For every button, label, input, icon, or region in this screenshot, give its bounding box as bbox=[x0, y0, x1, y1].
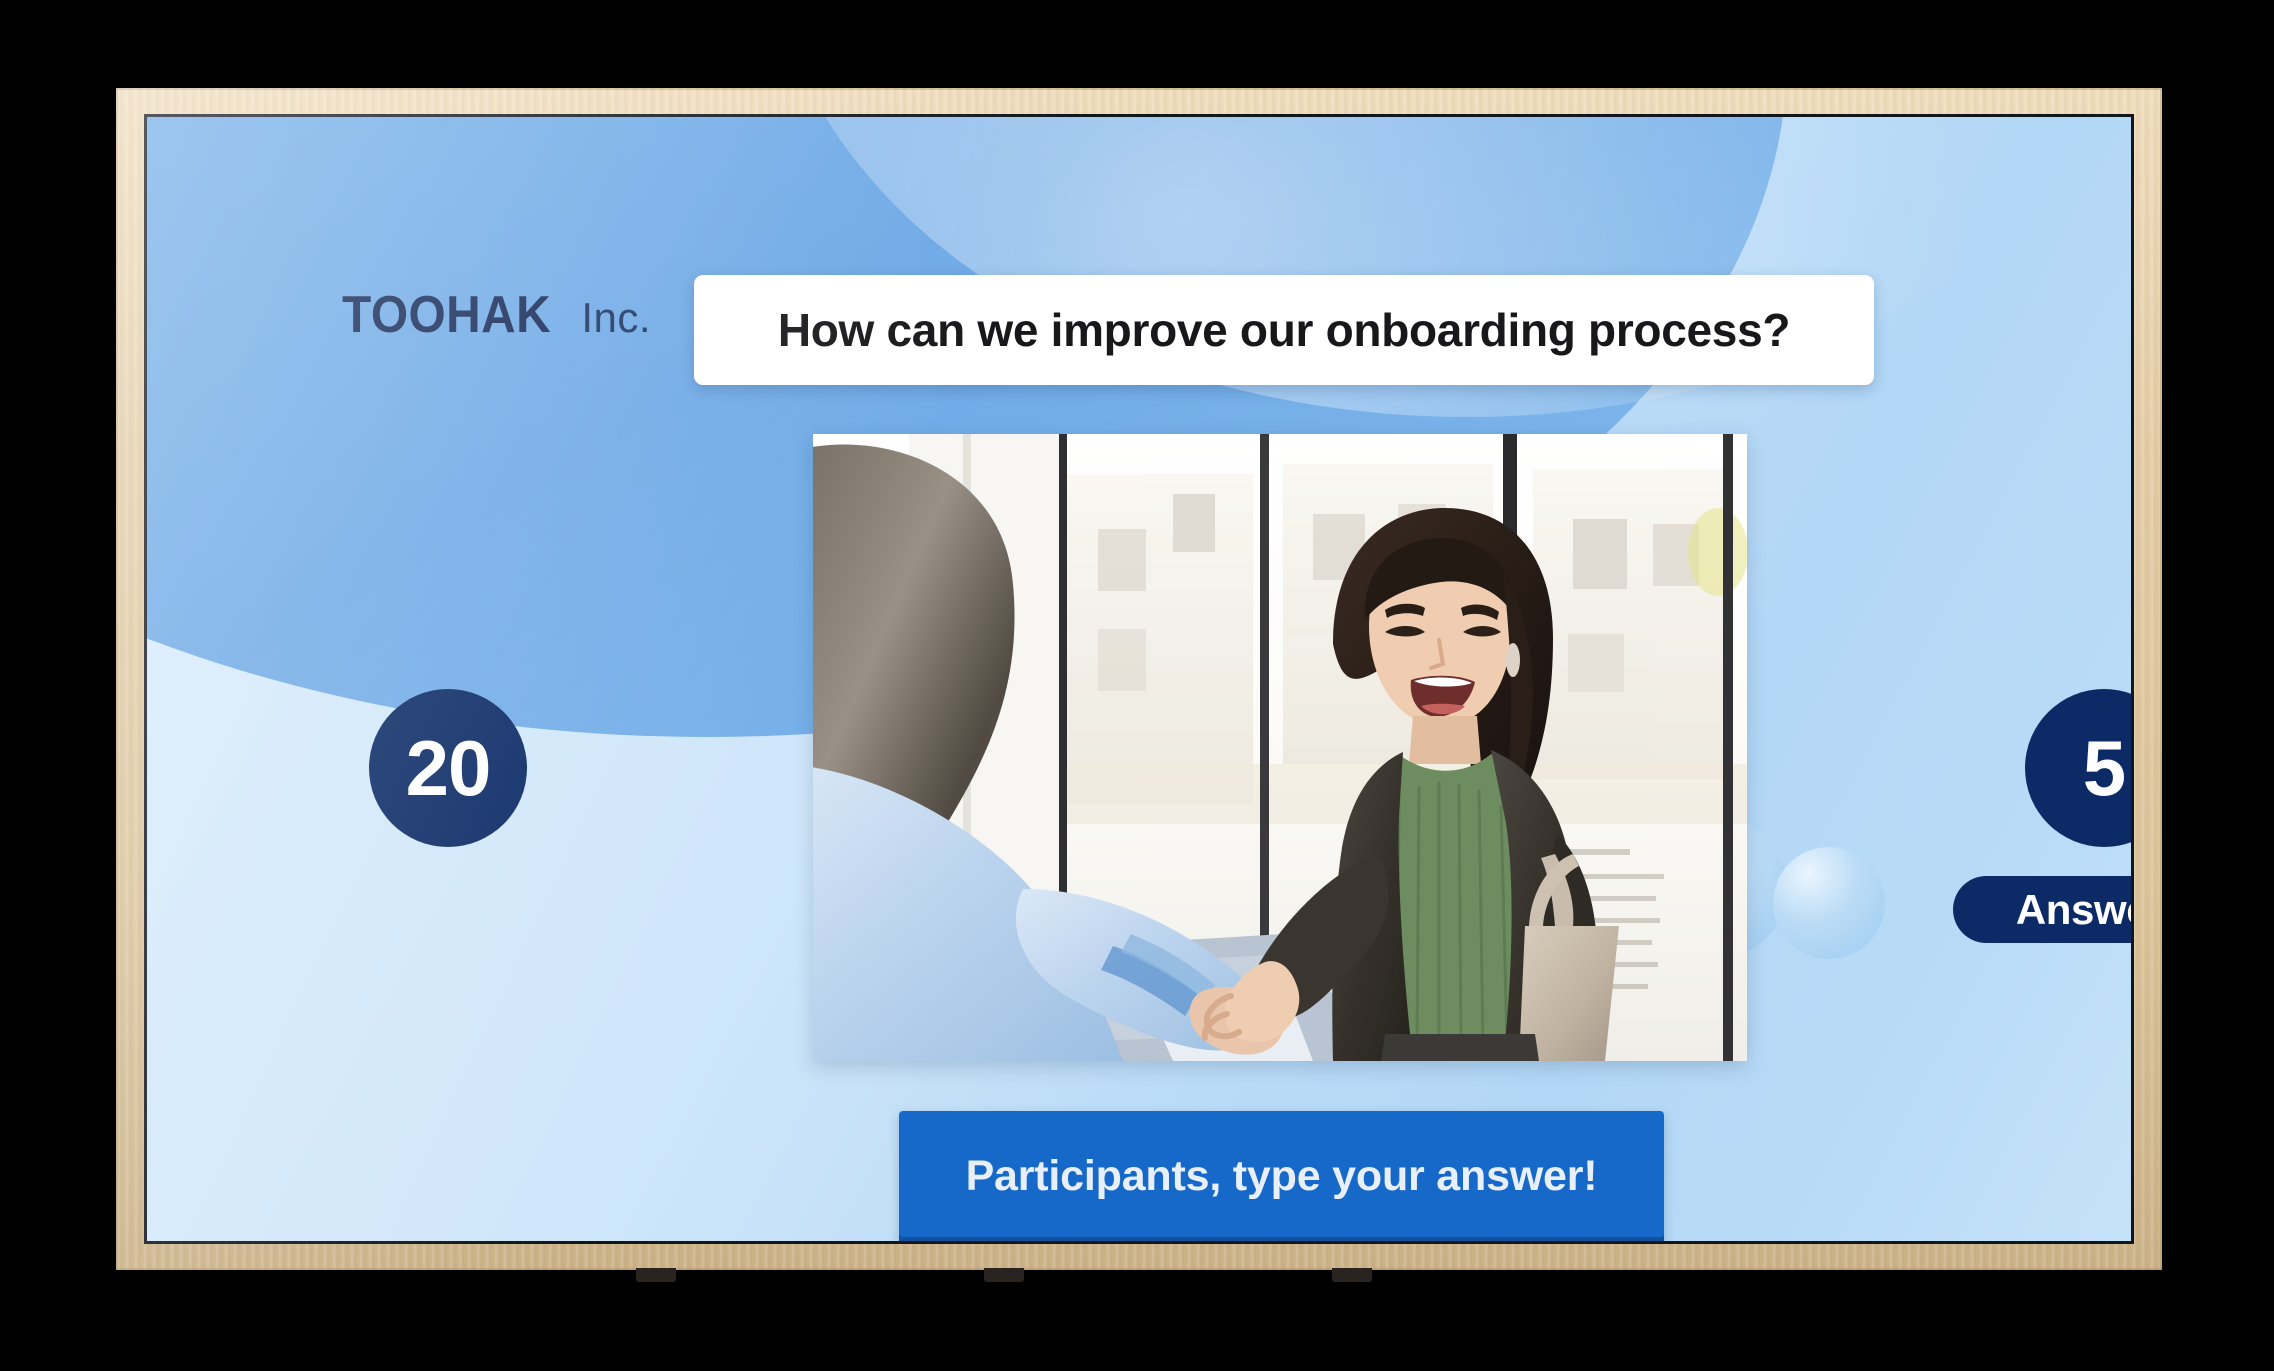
decorative-bubble-small bbox=[1773, 847, 1885, 959]
quiz-slide: TOOHAK Inc. How can we improve our onboa… bbox=[147, 117, 2131, 1241]
timer-seconds: 20 bbox=[406, 723, 491, 814]
answers-counter: 5 bbox=[2025, 689, 2131, 847]
screenshot-root: TOOHAK Inc. How can we improve our onboa… bbox=[0, 0, 2274, 1371]
question-image bbox=[813, 434, 1747, 1061]
participant-prompt-banner[interactable]: Participants, type your answer! bbox=[899, 1111, 1664, 1241]
participant-prompt-text: Participants, type your answer! bbox=[966, 1152, 1598, 1201]
brand-logo-suffix: Inc. bbox=[581, 294, 651, 342]
tv-stand-right bbox=[1332, 1268, 1372, 1282]
brand-logo-mark: TOOHAK bbox=[342, 285, 551, 345]
answers-label-badge: Answers bbox=[1953, 876, 2131, 943]
tv-screen: TOOHAK Inc. How can we improve our onboa… bbox=[144, 114, 2134, 1244]
answers-count: 5 bbox=[2083, 723, 2125, 814]
countdown-timer: 20 bbox=[369, 689, 527, 847]
tv-wooden-frame: TOOHAK Inc. How can we improve our onboa… bbox=[116, 88, 2162, 1270]
tv-stand-left bbox=[636, 1268, 676, 1282]
handshake-photo-illustration bbox=[813, 434, 1747, 1061]
tv-stand-center bbox=[984, 1268, 1024, 1282]
question-card: How can we improve our onboarding proces… bbox=[694, 275, 1874, 385]
answers-label: Answers bbox=[2016, 886, 2131, 934]
brand-logo: TOOHAK Inc. bbox=[342, 285, 651, 345]
question-text: How can we improve our onboarding proces… bbox=[754, 303, 1814, 357]
